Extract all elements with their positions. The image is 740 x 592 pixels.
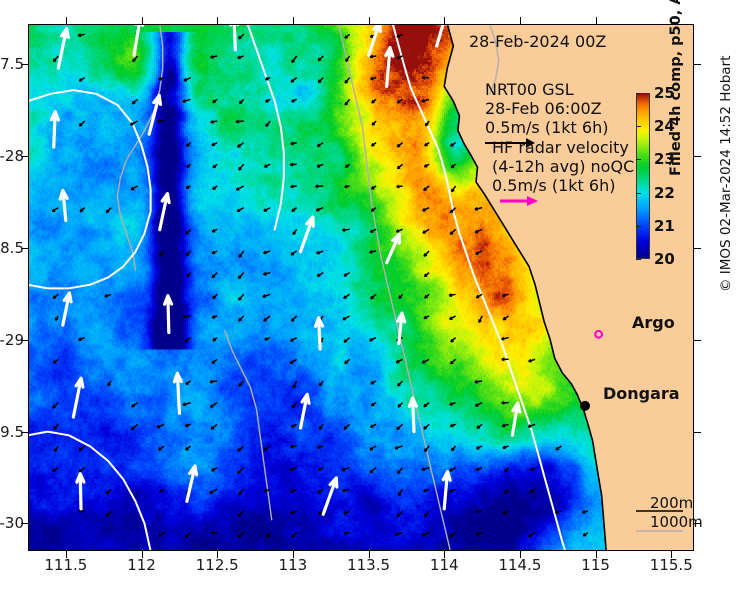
hf-radar-legend: HF radar velocity (4-12h avg) noQC 0.5m/…: [492, 138, 634, 208]
hf-radar-arrow: [239, 164, 244, 170]
hf-radar-arrow: [291, 78, 297, 82]
hf-radar-arrow: [79, 338, 85, 341]
bathy-1000m-label: 1000m: [650, 513, 703, 532]
hf-radar-arrow: [264, 164, 270, 167]
gsl-velocity-arrow: [134, 24, 143, 55]
y-axis-label: -29: [24, 331, 49, 349]
hf-radar-arrow: [424, 186, 429, 190]
dongara-label: Dongara: [603, 384, 680, 403]
hf-radar-arrow: [476, 510, 482, 512]
hf-radar-arrow: [213, 338, 217, 341]
gsl-velocity-arrow: [60, 191, 67, 221]
hf-radar-arrow: [345, 359, 350, 363]
hf-radar-arrow: [264, 208, 270, 212]
hf-radar-arrow: [395, 446, 403, 449]
hf-radar-arrow: [371, 403, 376, 406]
hf-radar-arrow: [213, 186, 218, 189]
hf-radar-arrow: [79, 121, 84, 126]
gsl-velocity-arrow: [231, 24, 238, 50]
hf-radar-arrow: [398, 381, 403, 386]
x-tick-top: [369, 17, 370, 24]
hf-radar-arrow: [529, 359, 536, 362]
hf-radar-arrow: [477, 424, 482, 428]
bathymetry-1000m-line: [338, 24, 450, 551]
hf-radar-arrow: [239, 489, 244, 495]
x-tick-top: [444, 17, 445, 24]
gsl-legend-line1: NRT00 GSL: [485, 80, 608, 99]
hf-radar-arrow: [264, 446, 270, 450]
gsl-velocity-arrow: [301, 217, 314, 252]
hf-radar-arrow: [320, 381, 324, 386]
colorbar-title: Filled 4h comp, p50, All Sats: [668, 0, 684, 176]
hf-radar-arrow: [53, 468, 59, 472]
hf-radar-arrow: [213, 164, 217, 167]
hf-radar-arrow: [370, 468, 376, 473]
gsl-velocity-arrow: [512, 403, 519, 435]
hf-radar-arrow: [239, 34, 244, 39]
hf-radar-arrow: [422, 76, 429, 79]
y-tick-right: [694, 340, 701, 341]
hf-radar-arrow: [397, 164, 402, 168]
hf-radar-arrow: [211, 424, 217, 429]
credit-text: © IMOS 02-Mar-2024 14:52 Hobart: [718, 56, 734, 292]
gsl-velocity-arrow: [316, 318, 323, 349]
bathymetry-1000m-line: [117, 24, 162, 270]
x-axis-label: 115.5: [650, 556, 693, 574]
x-tick-top: [596, 17, 597, 24]
hf-radar-arrow: [422, 99, 429, 102]
hf-radar-arrow: [133, 56, 138, 62]
gsl-velocity-arrow: [301, 394, 310, 428]
hf-radar-arrow: [397, 511, 402, 517]
gsl-velocity-arrow: [187, 466, 197, 501]
colorbar-tick-label: 20: [654, 250, 675, 268]
hf-radar-arrow: [213, 99, 217, 102]
hf-radar-arrow: [293, 381, 297, 388]
y-axis-label: -30: [24, 514, 49, 532]
hf-radar-arrow: [317, 164, 323, 167]
bathymetry-200m-line: [248, 24, 284, 230]
x-axis-label: 112.5: [196, 556, 239, 574]
hf-radar-arrow: [372, 186, 377, 189]
hf-radar-arrow: [372, 99, 376, 103]
x-tick-top: [293, 17, 294, 24]
hf-radar-arrow: [479, 316, 482, 322]
argo-marker[interactable]: [595, 331, 602, 338]
gsl-velocity-arrow: [63, 293, 71, 325]
hf-radar-arrow: [502, 294, 508, 297]
hf-radar-arrow: [395, 533, 402, 536]
hf-radar-arrow: [345, 185, 350, 188]
hf-radar-arrow: [263, 273, 270, 276]
x-axis-label: 115: [581, 556, 610, 574]
hf-radar-arrow: [345, 99, 350, 105]
hf-radar-arrow: [423, 208, 430, 211]
hf-radar-arrow: [475, 403, 482, 406]
hf-radar-arrow: [132, 403, 138, 407]
hf-radar-arrow: [503, 446, 509, 448]
hf-radar-arrow: [344, 273, 350, 276]
hf-radar-arrow: [290, 163, 296, 166]
hf-radar-arrow: [450, 403, 456, 406]
hf-radar-arrow: [397, 99, 402, 103]
hf-radar-arrow: [476, 251, 482, 254]
hf-radar-arrow: [398, 403, 403, 407]
hf-radar-arrow: [52, 208, 58, 212]
hf-radar-arrow: [211, 56, 218, 59]
gsl-velocity-arrow: [386, 48, 393, 87]
hf-radar-arrow: [291, 424, 296, 427]
x-tick-top: [142, 17, 143, 24]
hf-radar-arrow: [105, 294, 111, 297]
hf-radar-arrow: [452, 446, 456, 451]
hf-radar-arrow: [185, 533, 190, 538]
hf-radar-arrow: [505, 489, 509, 493]
x-axis-label: 113.5: [347, 556, 390, 574]
hf-radar-arrow: [449, 489, 455, 492]
hf-radar-arrow: [240, 99, 244, 103]
hf-radar-arrow: [212, 532, 218, 535]
bathymetry-200m-line: [28, 432, 151, 551]
hf-radar-arrow: [317, 273, 323, 277]
hf-legend-line1: HF radar velocity: [492, 138, 634, 157]
hf-radar-arrow: [212, 251, 217, 253]
colorbar-tick: [636, 159, 641, 160]
hf-radar-arrow: [211, 121, 218, 124]
y-axis-label: -29.5: [24, 423, 63, 441]
colorbar-tick-label: 21: [654, 217, 675, 235]
gsl-velocity-arrow: [369, 24, 381, 55]
hf-radar-arrow: [583, 533, 588, 536]
hf-radar-arrow: [132, 424, 138, 429]
y-tick-right: [694, 432, 701, 433]
colorbar-tick-label: 22: [654, 184, 675, 202]
hf-radar-arrow: [263, 294, 270, 297]
bathymetry-1000m-contours: [117, 24, 498, 551]
hf-radar-arrow: [185, 424, 190, 426]
hf-radar-arrow: [238, 446, 244, 451]
hf-radar-arrow: [425, 294, 429, 298]
x-tick-top: [217, 17, 218, 24]
hf-radar-arrow: [317, 446, 323, 448]
hf-radar-arrow: [425, 143, 429, 146]
hf-radar-arrow: [424, 316, 429, 318]
hf-radar-arrow: [238, 511, 244, 516]
hf-radar-arrow: [450, 533, 456, 537]
hf-radar-arrow: [80, 208, 85, 212]
gsl-velocity-arrows: [51, 24, 519, 514]
hf-radar-arrow: [291, 142, 297, 145]
gsl-legend-line2: 28-Feb 06:00Z: [485, 99, 608, 118]
bathy-200m-label: 200m: [650, 494, 703, 513]
hf-radar-arrow: [344, 294, 350, 298]
hf-radar-arrow: [317, 143, 323, 147]
hf-radar-arrow: [290, 445, 296, 448]
argo-label: Argo: [632, 313, 675, 332]
hf-radar-arrow: [397, 143, 402, 147]
hf-radar-arrow: [399, 294, 403, 298]
hf-radar-arrow: [290, 359, 297, 363]
x-axis-label: 113: [279, 556, 308, 574]
hf-radar-arrow: [502, 424, 508, 426]
hf-radar-arrow: [292, 316, 297, 321]
hf-radar-arrow: [372, 121, 376, 125]
hf-radar-arrow: [450, 316, 456, 319]
hf-radar-arrow: [475, 380, 482, 383]
hf-radar-arrow: [211, 403, 218, 408]
colorbar-tick: [636, 126, 641, 127]
hf-radar-arrow: [424, 403, 429, 407]
hf-radar-arrow: [290, 468, 297, 471]
hf-radar-arrow: [292, 208, 297, 212]
hf-radar-arrow: [55, 316, 58, 320]
hf-radar-arrow: [370, 424, 376, 427]
hf-radar-arrow: [345, 164, 349, 167]
hf-radar-arrow: [424, 489, 430, 491]
hf-radar-arrow: [186, 229, 191, 234]
hf-radar-arrow: [505, 468, 509, 472]
hf-radar-arrow: [53, 403, 59, 409]
hf-radar-arrow: [238, 143, 244, 147]
hf-radar-arrow: [187, 273, 191, 277]
hf-radar-arrow: [157, 424, 164, 427]
hf-radar-arrow: [319, 424, 323, 429]
hf-radar-arrow: [315, 185, 323, 188]
hf-radar-arrow: [344, 424, 350, 429]
hf-radar-arrow: [79, 446, 85, 451]
hf-radar-arrow: [318, 489, 323, 493]
hf-radar-arrow: [292, 56, 297, 63]
y-tick-right: [694, 64, 701, 65]
hf-radar-arrow: [555, 511, 561, 514]
hf-radar-arrow: [106, 489, 111, 494]
hf-radar-arrow: [106, 511, 111, 516]
hf-radar-arrow: [450, 468, 456, 471]
hf-radar-arrow: [265, 77, 270, 79]
hf-radar-arrow: [185, 338, 191, 342]
hf-radar-arrow: [265, 338, 271, 340]
hf-radar-arrow: [291, 511, 297, 514]
hf-radar-arrow: [183, 315, 191, 318]
hf-radar-arrow: [372, 143, 377, 146]
hf-radar-arrow: [450, 424, 455, 426]
gsl-velocity-arrow: [387, 234, 400, 263]
hf-radar-arrow: [397, 34, 403, 37]
hf-radar-arrow: [344, 532, 350, 535]
hf-legend-line3: 0.5m/s (1kt 6h): [492, 176, 634, 195]
hf-radar-arrow: [159, 446, 165, 450]
hf-radar-arrow: [291, 489, 297, 492]
hf-radar-arrow: [291, 251, 297, 255]
hf-radar-arrow: [160, 489, 165, 491]
hf-radar-arrow: [451, 164, 456, 167]
hf-reference-arrow-icon: [498, 194, 558, 208]
hf-radar-arrow: [212, 273, 217, 278]
hf-radar-arrow: [424, 251, 429, 256]
hf-radar-arrow: [318, 56, 323, 61]
hf-radar-arrow: [186, 251, 190, 256]
hf-radar-arrow: [450, 229, 455, 234]
hf-radar-arrow: [238, 468, 244, 474]
hf-radar-arrow: [396, 359, 402, 362]
x-axis-label: 114: [430, 556, 459, 574]
hf-radar-arrow: [422, 359, 429, 363]
hf-radar-arrow: [266, 121, 270, 127]
hf-radar-arrow: [343, 316, 350, 320]
hf-radar-arrow: [239, 316, 244, 321]
y-tick-right: [694, 248, 701, 249]
hf-radar-arrow: [184, 78, 191, 81]
hf-radar-arrow: [210, 489, 218, 493]
hf-radar-arrow: [159, 533, 165, 537]
x-axis-label: 114.5: [498, 556, 541, 574]
hf-radar-arrow: [237, 208, 244, 212]
hf-radar-arrow: [422, 468, 429, 471]
x-tick-top: [66, 17, 67, 24]
colorbar-gradient: [636, 93, 650, 259]
hf-radar-arrow: [239, 381, 244, 386]
hf-radar-arrow: [236, 186, 243, 190]
hf-radar-arrow: [398, 468, 403, 474]
hf-radar-arrow: [316, 208, 323, 211]
hf-radar-arrow: [399, 489, 403, 495]
hf-radar-arrow: [183, 403, 191, 406]
hf-radar-arrow: [186, 186, 191, 188]
hf-radar-arrow: [212, 229, 217, 232]
hf-radar-arrow: [78, 34, 85, 37]
y-axis-label: -27.5: [24, 55, 63, 73]
hf-radar-arrow: [318, 468, 323, 471]
hf-radar-arrow: [370, 338, 377, 341]
hf-radar-arrow: [264, 489, 270, 491]
hf-radar-arrow: [291, 185, 297, 188]
hf-radar-arrow: [212, 468, 218, 471]
x-axis-label: 112: [127, 556, 156, 574]
hf-radar-arrow: [160, 251, 164, 256]
hf-radar-arrow: [108, 381, 111, 386]
hf-radar-arrow: [239, 294, 244, 300]
hf-radar-arrow: [476, 446, 482, 449]
y-tick-right: [694, 156, 701, 157]
hf-radar-arrow: [318, 78, 323, 83]
hf-radar-arrow: [424, 273, 429, 277]
hf-radar-arrow: [449, 294, 456, 297]
plot-title: 28-Feb-2024 00Z: [469, 32, 606, 51]
hf-radar-arrow: [345, 34, 350, 38]
hf-radar-arrow: [159, 78, 165, 80]
hf-radar-arrow: [212, 143, 217, 146]
hf-radar-arrow: [370, 251, 377, 254]
hf-radar-arrow: [293, 229, 297, 234]
hf-radar-arrow: [370, 229, 376, 232]
hf-radar-arrow: [422, 533, 429, 536]
hf-radar-arrow: [131, 186, 138, 190]
hf-radar-arrow: [530, 468, 535, 471]
y-axis-label: -28.5: [24, 239, 63, 257]
hf-radar-arrow: [371, 381, 376, 384]
hf-radar-arrow: [79, 468, 85, 473]
gsl-velocity-arrow: [165, 296, 172, 333]
hf-radar-arrow: [396, 229, 402, 232]
hf-radar-arrow: [186, 381, 191, 384]
hf-radar-arrow: [502, 337, 509, 340]
hf-radar-arrow: [476, 533, 482, 535]
hf-radar-arrow: [292, 533, 297, 538]
hf-radar-arrow: [345, 78, 350, 84]
hf-radar-arrow: [530, 489, 535, 492]
dongara-marker[interactable]: [580, 401, 590, 411]
hf-radar-arrow: [371, 77, 377, 80]
hf-radar-arrow: [371, 294, 376, 299]
gsl-velocity-arrow: [174, 373, 181, 413]
hf-radar-arrow: [239, 251, 244, 257]
gsl-velocity-arrow: [409, 398, 416, 432]
hf-radar-arrow: [54, 359, 59, 363]
hf-radar-arrow: [475, 229, 482, 232]
hf-radar-arrow: [344, 338, 350, 343]
hf-radar-arrow: [317, 251, 324, 254]
gsl-velocity-arrow: [443, 472, 450, 509]
hf-radar-arrow: [183, 99, 191, 102]
gsl-velocity-arrow: [73, 378, 83, 417]
hf-radar-arrow: [582, 511, 588, 513]
hf-radar-arrow: [451, 359, 456, 364]
hf-radar-arrow: [556, 446, 562, 450]
hf-radar-arrow: [53, 294, 58, 298]
hf-radar-arrow: [451, 143, 456, 147]
hf-radar-arrow: [158, 120, 165, 123]
hf-radar-arrow: [187, 143, 191, 147]
hf-radar-arrow: [370, 55, 376, 58]
gsl-velocity-arrow: [323, 478, 337, 514]
hf-radar-arrow: [55, 446, 59, 451]
hf-radar-arrow: [212, 316, 217, 319]
gsl-legend-line3: 0.5m/s (1kt 6h): [485, 118, 608, 137]
hf-radar-arrow: [343, 489, 350, 492]
hf-radar-arrow: [452, 186, 456, 192]
gsl-velocity-arrow: [437, 24, 447, 46]
hf-radar-arrow: [342, 468, 350, 471]
hf-radar-arrow: [212, 359, 217, 363]
gsl-velocity-arrow: [51, 112, 58, 147]
colorbar-tick: [636, 193, 641, 194]
hf-radar-arrow: [425, 511, 429, 517]
hf-radar-arrow: [79, 78, 85, 81]
hf-radar-arrow: [264, 251, 271, 254]
colorbar-tick: [636, 226, 641, 227]
figure-root: 111.5112112.5113113.5114114.5115115.5-27…: [0, 0, 740, 592]
hf-radar-arrow: [239, 273, 244, 279]
hf-radar-arrow: [267, 533, 271, 538]
hf-radar-arrow: [451, 338, 456, 342]
x-axis-label: 111.5: [44, 556, 87, 574]
hf-radar-arrow: [344, 511, 350, 514]
bathymetry-legend: 200m 1000m: [650, 494, 703, 532]
gsl-velocity-arrow: [77, 474, 84, 509]
hf-radar-arrow: [342, 229, 349, 232]
colorbar: [636, 93, 650, 259]
hf-radar-arrow: [210, 380, 217, 383]
colorbar-tick: [636, 259, 641, 260]
hf-radar-arrow: [236, 120, 244, 123]
hf-radar-arrow: [397, 424, 403, 429]
hf-radar-arrow: [106, 208, 111, 213]
hf-radar-arrow: [528, 533, 535, 537]
hf-radar-arrow: [132, 99, 137, 104]
hf-radar-arrow: [187, 164, 191, 167]
hf-radar-arrow: [291, 338, 297, 341]
hf-radar-arrow: [503, 316, 508, 320]
